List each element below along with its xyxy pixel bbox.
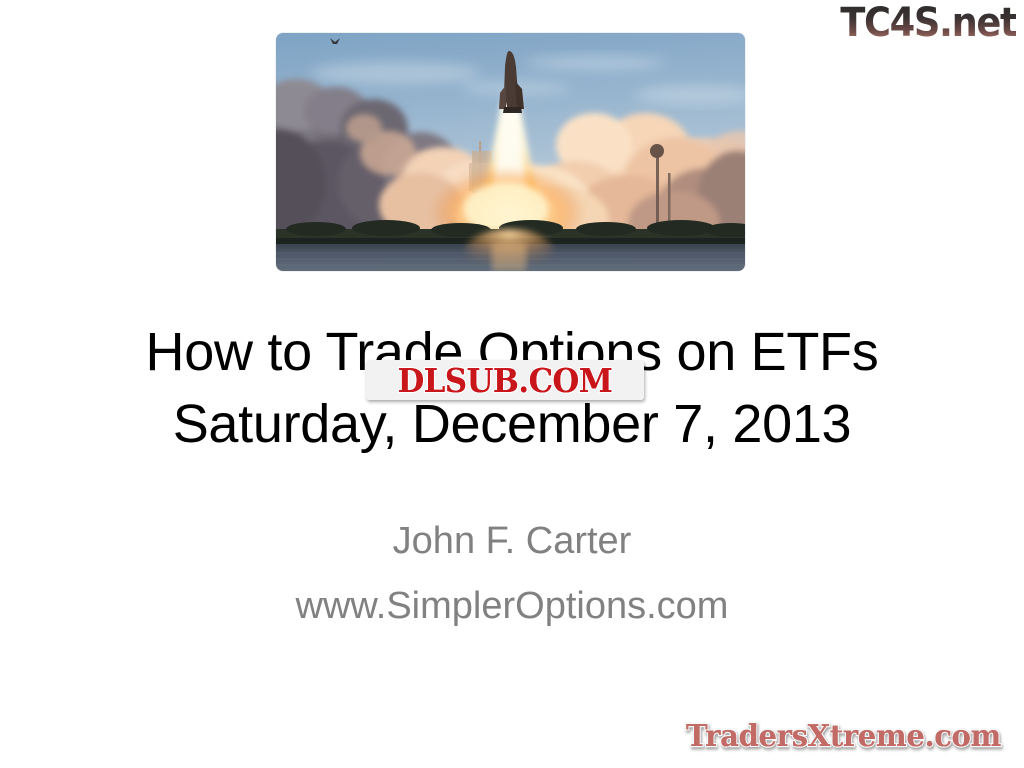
presentation-slide: TC4S.net — [0, 0, 1024, 768]
presenter-name: John F. Carter — [0, 520, 1024, 563]
launch-photo-artwork — [276, 33, 745, 271]
tradersxtreme-watermark-text: TradersXtreme.com — [681, 716, 1006, 756]
space-shuttle-launch-photo — [276, 33, 745, 271]
tradersxtreme-watermark: TradersXtreme.com TradersXtreme.com — [676, 716, 1011, 756]
presenter-website: www.SimplerOptions.com — [0, 585, 1024, 628]
dlsub-watermark: DLSUB.COM DLSUB.COM — [366, 360, 644, 400]
dlsub-watermark-text: DLSUB.COM — [376, 360, 635, 400]
tc4s-site-logo: TC4S.net — [840, 2, 1016, 44]
slide-title-line-2: Saturday, December 7, 2013 — [0, 395, 1024, 453]
